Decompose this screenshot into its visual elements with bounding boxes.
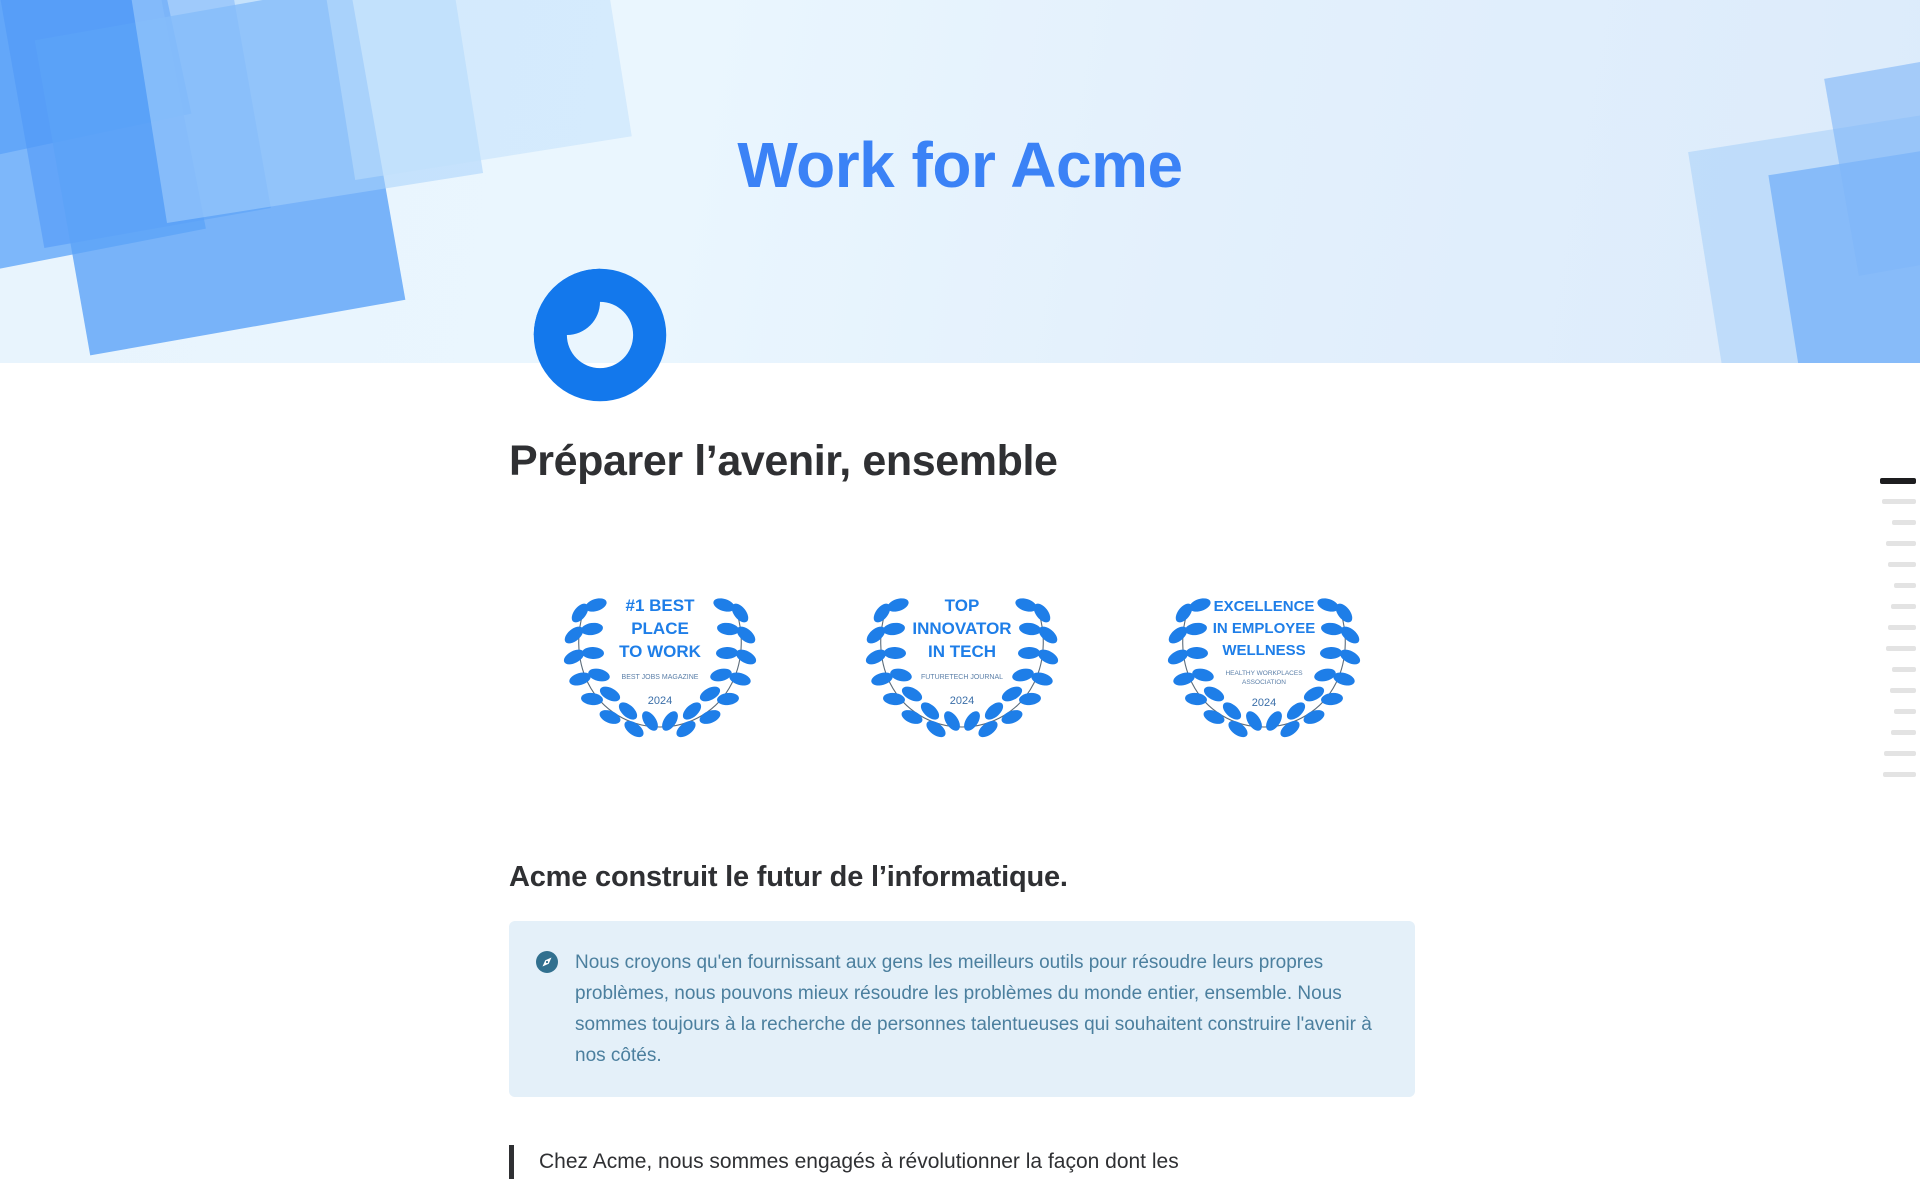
minimap-row[interactable] xyxy=(1860,512,1920,533)
minimap-row[interactable] xyxy=(1860,554,1920,575)
award-title-line: IN TECH xyxy=(928,642,996,661)
award-title-line: #1 BEST xyxy=(626,596,696,615)
section-heading: Acme construit le futur de l’informatiqu… xyxy=(509,861,1415,894)
minimap-line xyxy=(1888,625,1916,630)
minimap-row[interactable] xyxy=(1860,722,1920,743)
award-source-line: ASSOCIATION xyxy=(1242,679,1286,686)
document-minimap[interactable] xyxy=(1860,470,1920,785)
award-title-line: IN EMPLOYEE xyxy=(1213,620,1316,637)
minimap-row[interactable] xyxy=(1860,764,1920,785)
minimap-row[interactable] xyxy=(1860,659,1920,680)
award-year: 2024 xyxy=(1252,697,1276,709)
award-badge: TOP INNOVATOR IN TECH FUTURETECH JOURNAL… xyxy=(811,561,1113,741)
award-title-line: WELLNESS xyxy=(1222,642,1305,659)
minimap-line xyxy=(1892,667,1916,672)
minimap-row[interactable] xyxy=(1860,617,1920,638)
hero-banner: Work for Acme xyxy=(0,0,1920,363)
award-title-line: TOP xyxy=(945,596,980,615)
award-badge: EXCELLENCE IN EMPLOYEE WELLNESS HEALTHY … xyxy=(1113,561,1415,741)
callout-text: Nous croyons qu'en fournissant aux gens … xyxy=(575,947,1385,1071)
compass-icon xyxy=(535,950,559,974)
award-badge: #1 BEST PLACE TO WORK BEST JOBS MAGAZINE… xyxy=(509,561,811,741)
page-title: Préparer l’avenir, ensemble xyxy=(509,437,1415,486)
minimap-row[interactable] xyxy=(1860,491,1920,512)
minimap-line xyxy=(1890,688,1916,693)
minimap-line xyxy=(1882,499,1916,504)
acme-ring-logo-icon xyxy=(528,263,672,407)
minimap-row[interactable] xyxy=(1860,680,1920,701)
minimap-line xyxy=(1884,751,1916,756)
minimap-row[interactable] xyxy=(1860,596,1920,617)
awards-row: #1 BEST PLACE TO WORK BEST JOBS MAGAZINE… xyxy=(509,561,1415,741)
info-callout: Nous croyons qu'en fournissant aux gens … xyxy=(509,921,1415,1097)
award-source-line: HEALTHY WORKPLACES xyxy=(1225,670,1303,677)
minimap-line xyxy=(1886,646,1916,651)
hero-title: Work for Acme xyxy=(0,128,1920,202)
minimap-line xyxy=(1888,562,1916,567)
laurel-wreath-icon xyxy=(561,596,758,740)
award-year: 2024 xyxy=(950,695,974,707)
award-year: 2024 xyxy=(648,695,672,707)
award-title-line: INNOVATOR xyxy=(912,619,1011,638)
minimap-row[interactable] xyxy=(1860,470,1920,491)
award-source-line: BEST JOBS MAGAZINE xyxy=(622,674,699,681)
minimap-line xyxy=(1891,604,1916,609)
minimap-line xyxy=(1883,772,1916,777)
minimap-line xyxy=(1894,583,1916,588)
award-title-line: PLACE xyxy=(631,619,689,638)
minimap-line xyxy=(1892,520,1916,525)
page-content: Préparer l’avenir, ensemble xyxy=(0,363,1920,1179)
minimap-line-active xyxy=(1880,478,1916,484)
minimap-line xyxy=(1891,730,1916,735)
blockquote: Chez Acme, nous sommes engagés à révolut… xyxy=(509,1145,1389,1179)
minimap-row[interactable] xyxy=(1860,638,1920,659)
award-title-line: EXCELLENCE xyxy=(1214,598,1315,615)
minimap-line xyxy=(1886,541,1916,546)
award-title-line: TO WORK xyxy=(619,642,702,661)
minimap-line xyxy=(1894,709,1916,714)
minimap-row[interactable] xyxy=(1860,743,1920,764)
award-source-line: FUTURETECH JOURNAL xyxy=(921,674,1003,681)
minimap-row[interactable] xyxy=(1860,575,1920,596)
minimap-row[interactable] xyxy=(1860,533,1920,554)
laurel-wreath-icon xyxy=(863,596,1060,740)
minimap-row[interactable] xyxy=(1860,701,1920,722)
laurel-wreath-icon xyxy=(1165,596,1362,740)
